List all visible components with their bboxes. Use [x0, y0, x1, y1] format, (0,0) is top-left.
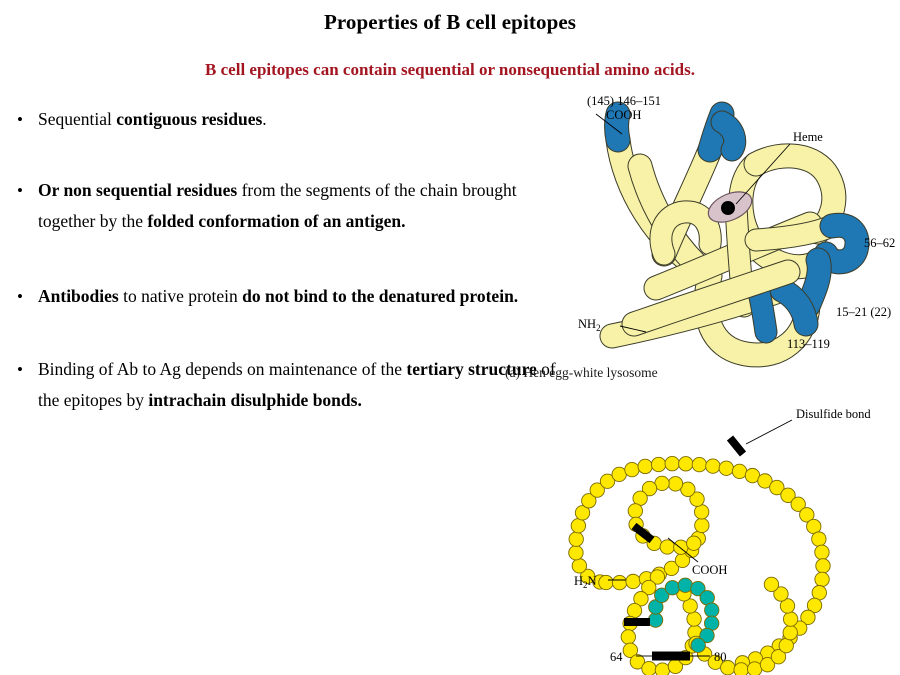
text-run-bold: do not bind to the denatured protein.: [242, 286, 518, 306]
residue-bead: [815, 545, 829, 559]
list-item-text: Or non sequential residues from the segm…: [38, 180, 517, 231]
residue-bead: [627, 603, 641, 617]
residue-bead: [816, 559, 830, 573]
residue-bead: [621, 630, 635, 644]
residue-bead: [625, 462, 639, 476]
residue-bead: [719, 461, 733, 475]
label-nh2-text: NH: [578, 317, 596, 331]
text-run-bold: folded conformation of an antigen.: [147, 211, 405, 231]
residue-bead: [732, 464, 746, 478]
residue-bead: [571, 519, 585, 533]
residue-bead: [734, 663, 748, 675]
label-epitope-56-62: 56–62: [864, 236, 895, 250]
residue-bead: [692, 457, 706, 471]
residue-bead: [626, 574, 640, 588]
residue-bead: [572, 559, 586, 573]
residue-bead: [638, 459, 652, 473]
residue-bead: [665, 581, 679, 595]
residue-bead: [612, 467, 626, 481]
residue-bead: [691, 638, 705, 652]
residue-bead: [695, 518, 709, 532]
list-item: • Or non sequential residues from the se…: [8, 175, 566, 237]
text-run: Binding of Ab to Ag depends on maintenan…: [38, 359, 406, 379]
page-subtitle: B cell epitopes can contain sequential o…: [0, 60, 900, 80]
residue-bead: [668, 477, 682, 491]
page-title: Properties of B cell epitopes: [0, 10, 900, 35]
text-run-bold: intrachain disulphide bonds.: [148, 390, 362, 410]
residue-bead: [648, 613, 662, 627]
label-cooh: COOH: [606, 108, 641, 122]
text-run-bold: contiguous residues: [116, 109, 262, 129]
text-run: .: [262, 109, 266, 129]
residue-bead: [815, 572, 829, 586]
polypeptide-bead-chain-diagram: Disulfide bond COOH H2N 64 80: [560, 382, 900, 675]
residue-bead: [651, 457, 665, 471]
label-h2n-text-after: N: [588, 574, 597, 588]
residue-bead: [628, 504, 642, 518]
label-cooh-range: (145) 146–151: [587, 94, 661, 108]
list-item: • Antibodies to native protein do not bi…: [8, 281, 566, 312]
bullet-marker-icon: •: [17, 175, 23, 206]
residue-bead: [687, 536, 701, 550]
list-item-text: Antibodies to native protein do not bind…: [38, 286, 518, 306]
residue-bead: [678, 578, 692, 592]
residue-bead: [705, 603, 719, 617]
list-item-text: Sequential contiguous residues.: [38, 109, 267, 129]
residue-bead: [569, 532, 583, 546]
text-run: Sequential: [38, 109, 116, 129]
list-item: • Sequential contiguous residues.: [8, 104, 566, 135]
residue-bead: [764, 577, 778, 591]
label-epitope-113-119: 113–119: [787, 337, 830, 351]
ribbon-tubes: [612, 114, 857, 355]
residue-bead: [569, 546, 583, 560]
residue-bead: [679, 457, 693, 471]
protein-ribbon-diagram: (145) 146–151 COOH Heme 56–62 15–21 (22)…: [560, 92, 900, 382]
residue-bead: [783, 625, 797, 639]
label-heme: Heme: [793, 130, 823, 144]
bullet-marker-icon: •: [17, 104, 23, 135]
residue-bead: [783, 612, 797, 626]
label-h2n-text: H: [574, 574, 583, 588]
figure-panel: (145) 146–151 COOH Heme 56–62 15–21 (22)…: [560, 92, 900, 675]
residue-bead: [779, 638, 793, 652]
residue-bead: [655, 663, 669, 675]
label-cooh: COOH: [692, 563, 727, 577]
residue-bead: [694, 505, 708, 519]
label-nh2: NH2: [578, 317, 601, 333]
bullet-list: • Sequential contiguous residues. • Or n…: [8, 104, 566, 416]
residue-bead: [642, 661, 656, 675]
residue-bead: [706, 459, 720, 473]
residue-bead: [612, 575, 626, 589]
bullet-marker-icon: •: [17, 281, 23, 312]
residue-bead: [747, 662, 761, 675]
list-item-text: Binding of Ab to Ag depends on maintenan…: [38, 359, 556, 410]
label-residue-64: 64: [610, 650, 623, 664]
figure-caption: (a) Hen egg-white lysosome: [505, 365, 658, 381]
residue-bead: [665, 456, 679, 470]
residue-bead: [812, 532, 826, 546]
label-disulfide-bond: Disulfide bond: [796, 407, 871, 421]
label-residue-80: 80: [714, 650, 727, 664]
list-item: • Binding of Ab to Ag depends on mainten…: [8, 354, 566, 416]
text-run-bold: Antibodies: [38, 286, 119, 306]
text-run-bold: Or non sequential residues: [38, 180, 237, 200]
text-run: to native protein: [119, 286, 242, 306]
residue-bead: [812, 586, 826, 600]
label-epitope-15-21: 15–21 (22): [836, 305, 891, 319]
residue-bead: [599, 575, 613, 589]
bullet-marker-icon: •: [17, 354, 23, 385]
label-nh2-subscript: 2: [596, 323, 601, 333]
residue-bead: [687, 612, 701, 626]
